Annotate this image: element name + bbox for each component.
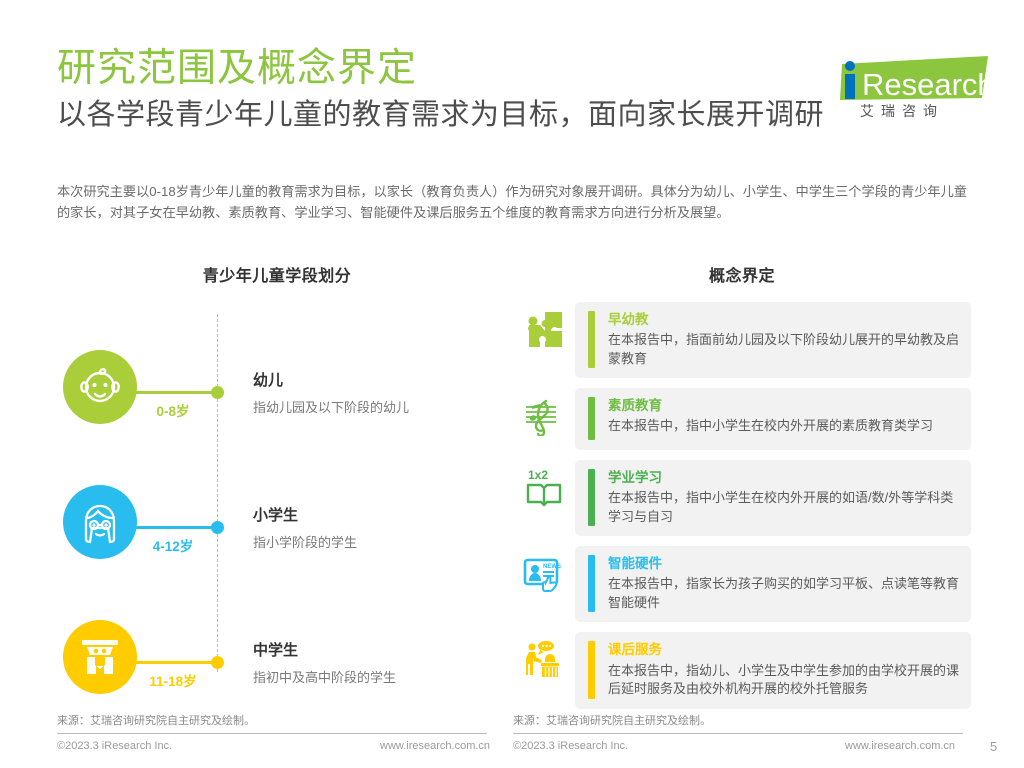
right-panel-heading: 概念界定	[513, 262, 971, 286]
concept-definition-panel: 概念界定 早幼教 在本报告	[513, 262, 971, 719]
timeline-node	[211, 656, 224, 669]
intro-paragraph: 本次研究主要以0-18岁青少年儿童的教育需求为目标，以家长（教育负责人）作为研究…	[57, 181, 969, 224]
stage-text: 小学生 指小学阶段的学生	[253, 505, 497, 553]
stage-timeline: 0-8岁 幼儿 指幼儿园及以下阶段的幼儿	[57, 308, 497, 708]
concept-card-body: 素质教育 在本报告中，指中小学生在校内外开展的素质教育类学习	[575, 388, 971, 450]
accent-bar	[588, 555, 595, 612]
stage-age-label: 4-12岁	[135, 535, 211, 555]
iresearch-logo: Research 艾瑞咨询	[836, 48, 996, 120]
concept-card: NEWS 智能硬件 在本报告中，指家长为孩子购买的如学习平板、点读笔等教育智能硬…	[513, 546, 971, 622]
concept-card-body: 智能硬件 在本报告中，指家长为孩子购买的如学习平板、点读笔等教育智能硬件	[575, 546, 971, 622]
concept-desc: 在本报告中，指中小学生在校内外开展的如语/数/外等学科类学习与自习	[608, 489, 959, 526]
source-note-right: 来源：艾瑞咨询研究院自主研究及绘制。	[513, 712, 711, 728]
copyright-left: ©2023.3 iResearch Inc.	[57, 740, 172, 752]
open-book-math-icon: 1x2	[513, 460, 575, 508]
concept-card: 早幼教 在本报告中，指面前幼儿园及以下阶段幼儿展开的早幼教及启蒙教育	[513, 302, 971, 378]
website-url-left: www.iresearch.com.cn	[380, 740, 490, 752]
concept-card: 1x2 学业学习 在本报告中，指中小学生在校内外开展的如语/数/外等学科类学习与…	[513, 460, 971, 536]
baby-face-icon	[63, 350, 137, 424]
timeline-node	[211, 386, 224, 399]
concept-desc: 在本报告中，指幼儿、小学生及中学生参加的由学校开展的课后延时服务及由校外机构开展…	[608, 662, 959, 699]
svg-text:艾瑞咨询: 艾瑞咨询	[860, 104, 944, 120]
concept-card-body: 早幼教 在本报告中，指面前幼儿园及以下阶段幼儿展开的早幼教及启蒙教育	[575, 302, 971, 378]
concept-card-body: 学业学习 在本报告中，指中小学生在校内外开展的如语/数/外等学科类学习与自习	[575, 460, 971, 536]
stage-desc: 指初中及高中阶段的学生	[253, 668, 497, 688]
concept-card-body: 课后服务 在本报告中，指幼儿、小学生及中学生参加的由学校开展的课后延时服务及由校…	[575, 632, 971, 708]
concept-desc: 在本报告中，指中小学生在校内外开展的素质教育类学习	[608, 417, 959, 435]
accent-bar	[588, 469, 595, 526]
concept-title: 早幼教	[608, 311, 959, 329]
concept-card: 素质教育 在本报告中，指中小学生在校内外开展的素质教育类学习	[513, 388, 971, 450]
timeline-node	[211, 521, 224, 534]
stage-text: 幼儿 指幼儿园及以下阶段的幼儿	[253, 370, 497, 418]
accent-bar	[588, 397, 595, 440]
timeline-row: 0-8岁 幼儿 指幼儿园及以下阶段的幼儿	[57, 350, 497, 446]
svg-text:1x2: 1x2	[528, 468, 548, 482]
timeline-row: 4-12岁 小学生 指小学阶段的学生	[57, 485, 497, 581]
svg-text:NEWS: NEWS	[543, 564, 561, 570]
copyright-right: ©2023.3 iResearch Inc.	[513, 740, 628, 752]
stage-text: 中学生 指初中及高中阶段的学生	[253, 640, 497, 688]
page-number: 5	[990, 739, 997, 754]
concept-card-list: 早幼教 在本报告中，指面前幼儿园及以下阶段幼儿展开的早幼教及启蒙教育	[513, 302, 971, 709]
timeline-connector	[133, 661, 219, 664]
puzzle-pieces-icon	[513, 302, 575, 350]
stage-desc: 指幼儿园及以下阶段的幼儿	[253, 398, 497, 418]
concept-title: 课后服务	[608, 641, 959, 659]
concept-title: 智能硬件	[608, 555, 959, 573]
timeline-row: 11-18岁 中学生 指初中及高中阶段的学生	[57, 620, 497, 716]
accent-bar	[588, 311, 595, 368]
left-panel-heading: 青少年儿童学段划分	[57, 262, 497, 286]
stage-age-label: 11-18岁	[135, 670, 211, 690]
concept-desc: 在本报告中，指面前幼儿园及以下阶段幼儿展开的早幼教及启蒙教育	[608, 331, 959, 368]
stage-name: 小学生	[253, 505, 497, 526]
footer-divider-right	[513, 733, 963, 734]
stage-division-panel: 青少年儿童学段划分	[57, 262, 497, 708]
concept-title: 学业学习	[608, 469, 959, 487]
stage-name: 幼儿	[253, 370, 497, 391]
teacher-desk-icon	[513, 632, 575, 680]
stage-age-label: 0-8岁	[135, 400, 211, 420]
footer-divider-left	[57, 733, 487, 734]
concept-card: 课后服务 在本报告中，指幼儿、小学生及中学生参加的由学校开展的课后延时服务及由校…	[513, 632, 971, 708]
concept-desc: 在本报告中，指家长为孩子购买的如学习平板、点读笔等教育智能硬件	[608, 575, 959, 612]
source-note-left: 来源：艾瑞咨询研究院自主研究及绘制。	[57, 712, 255, 728]
website-url-right: www.iresearch.com.cn	[845, 740, 955, 752]
accent-bar	[588, 641, 595, 698]
slide: 研究范围及概念界定 以各学段青少年儿童的教育需求为目标，面向家长展开调研 本次研…	[0, 0, 1024, 768]
stage-name: 中学生	[253, 640, 497, 661]
timeline-connector	[133, 526, 219, 529]
timeline-connector	[133, 391, 219, 394]
concept-title: 素质教育	[608, 397, 959, 415]
svg-text:Research: Research	[862, 67, 995, 102]
schoolgirl-face-icon	[63, 485, 137, 559]
music-clef-icon	[513, 388, 575, 436]
tablet-touch-icon: NEWS	[513, 546, 575, 594]
stage-desc: 指小学阶段的学生	[253, 533, 497, 553]
graduate-face-icon	[63, 620, 137, 694]
